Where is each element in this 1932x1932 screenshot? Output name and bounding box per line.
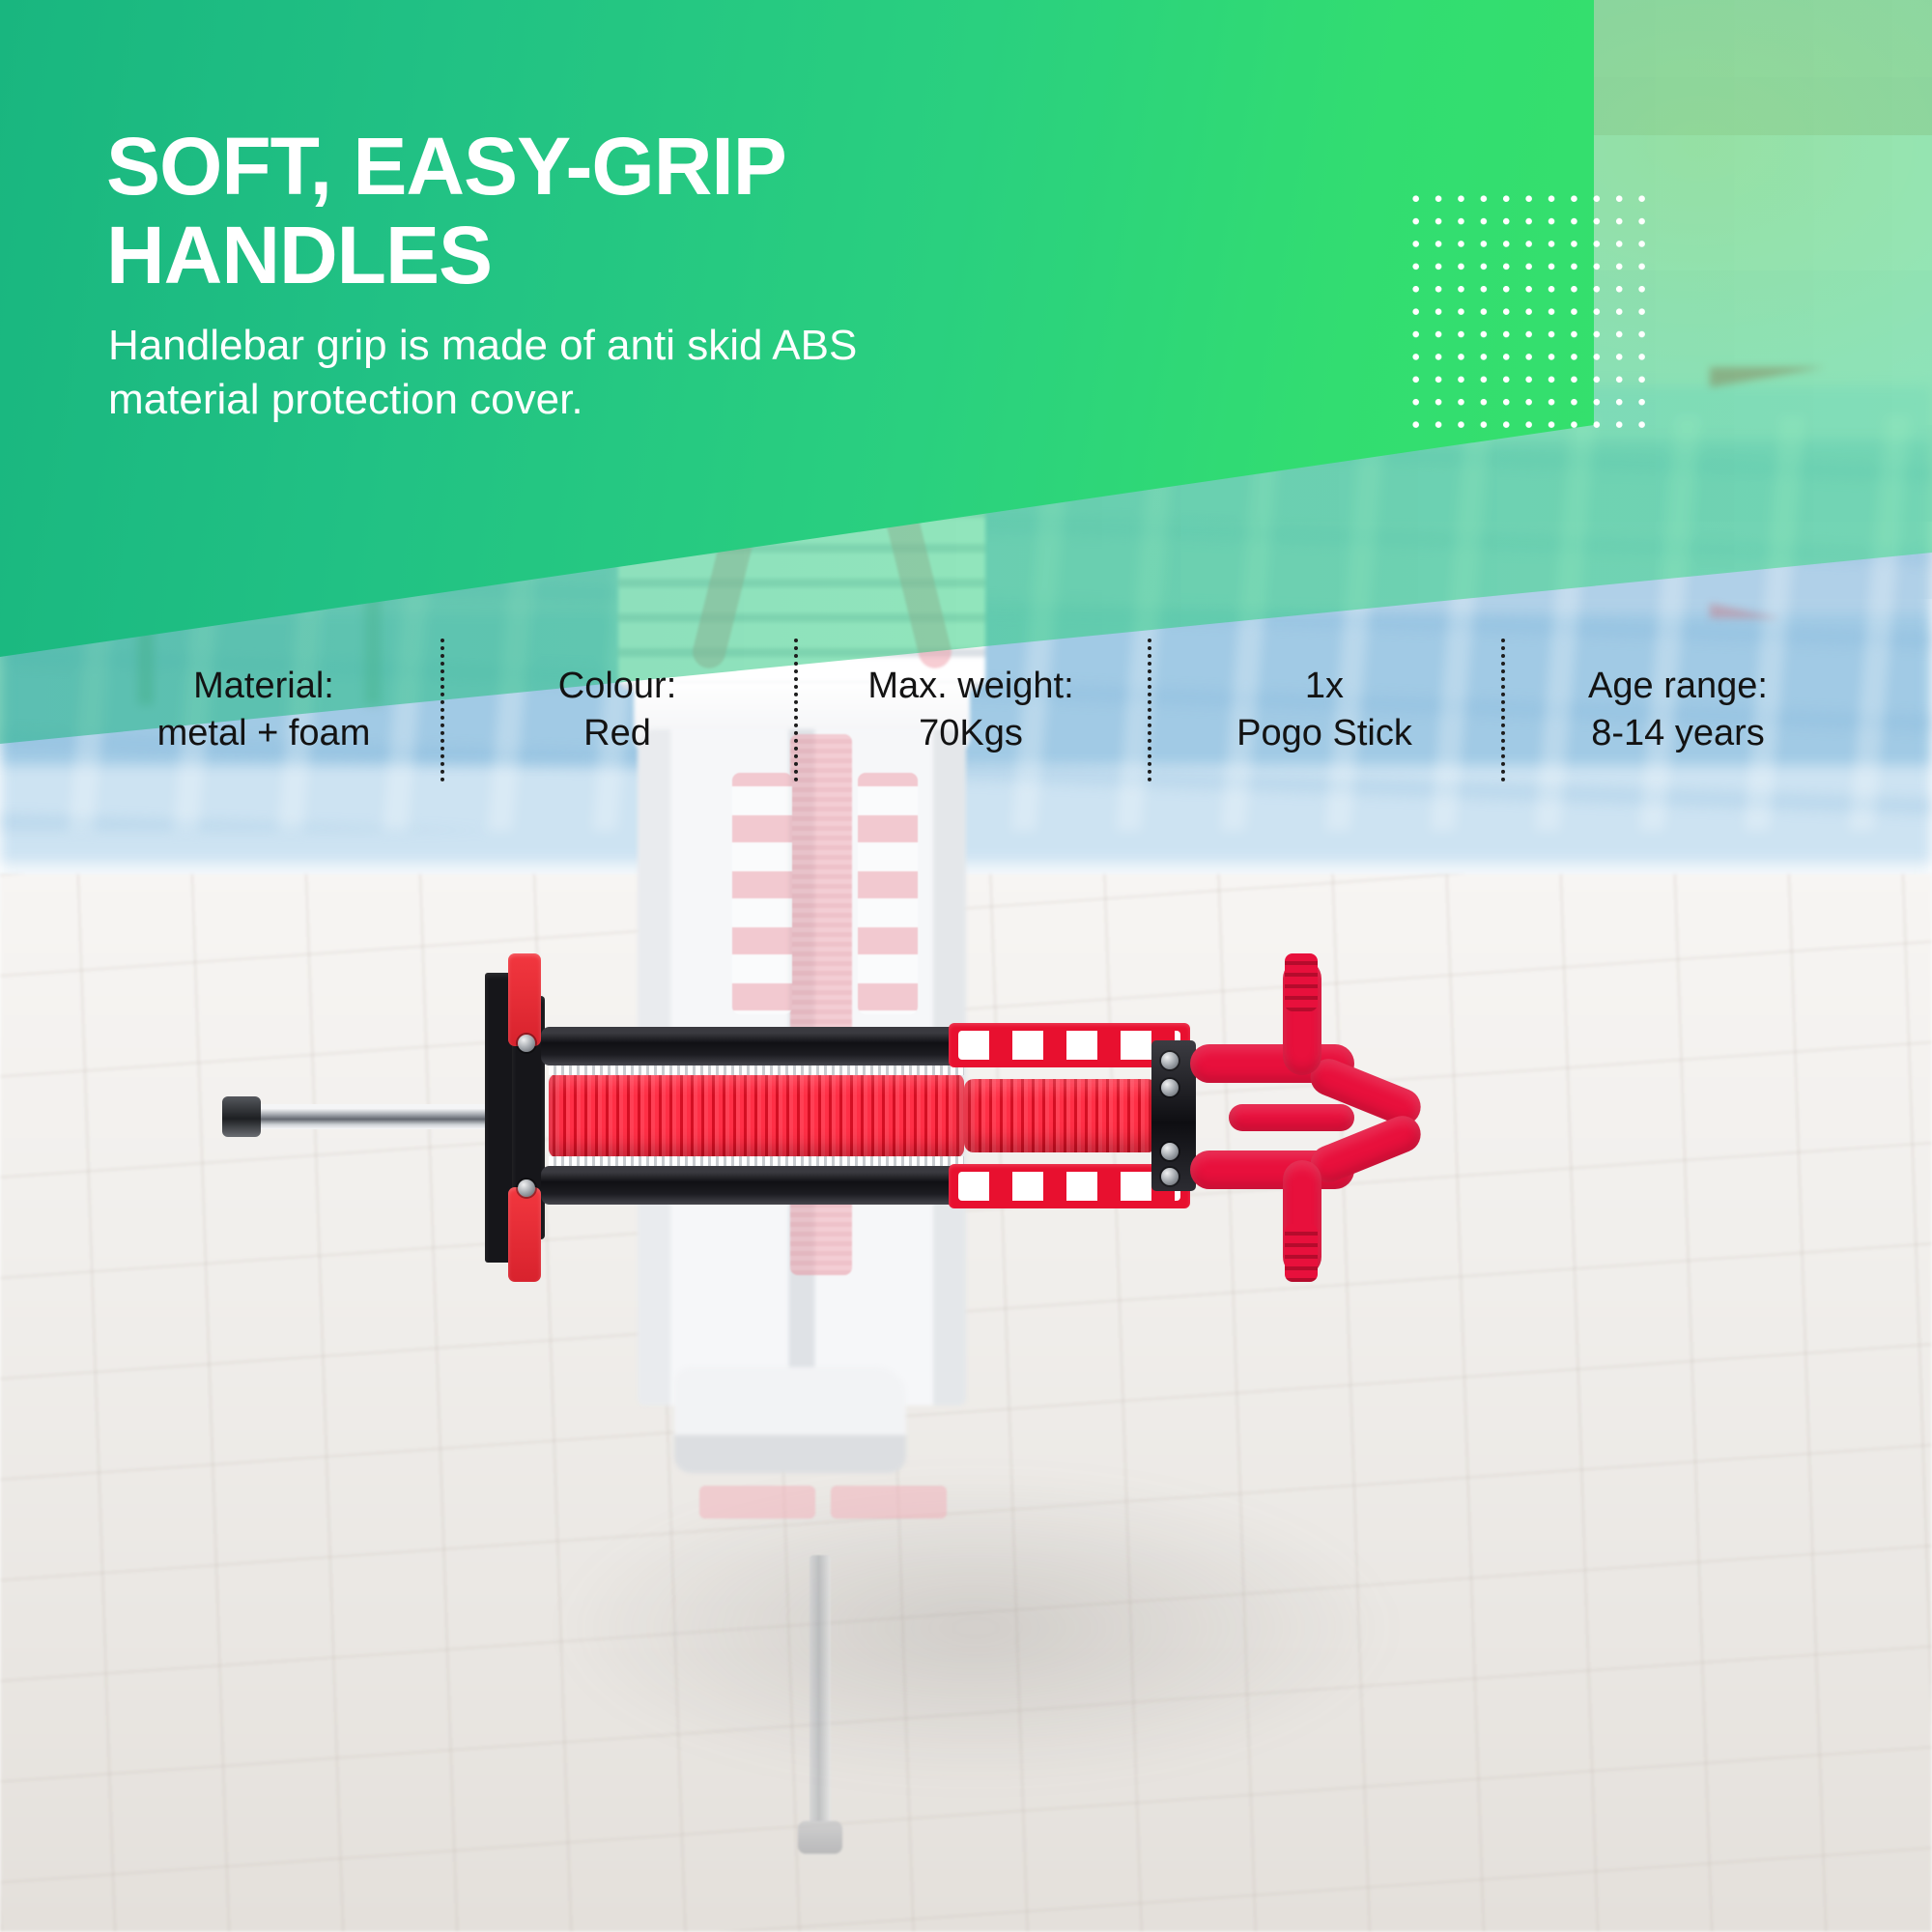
- spec-value-age-range: 8-14 years: [1588, 710, 1768, 757]
- spec-label-colour: Colour:: [558, 663, 677, 710]
- spring-foam-cover-right: [964, 1079, 1157, 1152]
- clamp-bolt-2: [1161, 1079, 1179, 1096]
- frame-tube-upper: [541, 1027, 985, 1065]
- spec-item-age-range: Age range: 8-14 years: [1501, 633, 1855, 787]
- spec-label-material: Material:: [157, 663, 371, 710]
- end-pad-bottom: [508, 1187, 541, 1282]
- frame-bolt-bottom: [518, 1179, 535, 1197]
- spring-coil-bottom: [549, 1156, 964, 1166]
- end-pad-top: [508, 953, 541, 1046]
- spec-value-max-weight: 70Kgs: [867, 710, 1073, 757]
- spec-value-quantity: Pogo Stick: [1236, 710, 1412, 757]
- frame-tube-lower: [541, 1166, 985, 1205]
- spec-value-colour: Red: [558, 710, 677, 757]
- chrome-pole: [234, 1104, 495, 1129]
- spec-label-quantity: 1x: [1236, 663, 1412, 710]
- clamp-bolt-3: [1161, 1143, 1179, 1160]
- spec-value-material: metal + foam: [157, 710, 371, 757]
- spring-foam-cover: [549, 1073, 964, 1158]
- page-subtitle: Handlebar grip is made of anti skid ABS …: [108, 319, 1007, 428]
- ghost-rubber-tip: [798, 1821, 842, 1854]
- ghost-footrest-left: [699, 1486, 815, 1519]
- spec-label-age-range: Age range:: [1588, 663, 1768, 710]
- page-title: SOFT, EASY-GRIP HANDLES: [106, 122, 1150, 300]
- spec-label-max-weight: Max. weight:: [867, 663, 1073, 710]
- spec-item-colour: Colour: Red: [440, 633, 794, 787]
- ghost-footrest-right: [831, 1486, 947, 1519]
- spec-item-quantity: 1x Pogo Stick: [1148, 633, 1501, 787]
- dot-grid-decoration: [1403, 185, 1652, 435]
- ghost-lower-pole: [810, 1555, 831, 1835]
- spec-item-max-weight: Max. weight: 70Kgs: [794, 633, 1148, 787]
- grip-tip-upper: [1285, 953, 1318, 1011]
- clamp-bolt-1: [1161, 1052, 1179, 1069]
- specification-row: Material: metal + foam Colour: Red Max. …: [87, 633, 1855, 787]
- clamp-bolt-4: [1161, 1168, 1179, 1185]
- frame-bolt-top: [518, 1035, 535, 1052]
- rubber-tip-cap: [222, 1096, 261, 1137]
- spring-coil-top: [549, 1065, 964, 1075]
- spec-item-material: Material: metal + foam: [87, 633, 440, 787]
- pogo-stick-product: [222, 952, 1343, 1280]
- handlebar-center-web: [1229, 1104, 1354, 1131]
- grip-tip-lower: [1285, 1224, 1318, 1282]
